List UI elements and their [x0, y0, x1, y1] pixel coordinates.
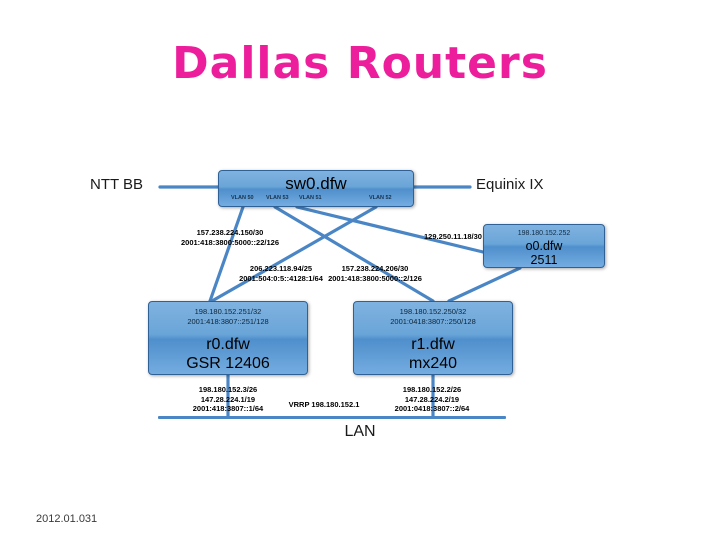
link-label-ntt-transit: 157.238.224.150/30 2001:418:3800:5000::2…	[165, 228, 295, 247]
vlan-label-51: VLAN 51	[299, 195, 322, 201]
lan-label-vrrp: VRRP 198.180.152.1	[272, 400, 376, 410]
node-r0-dfw[interactable]: 198.180.152.251/32 2001:418:3807::251/12…	[148, 301, 308, 375]
node-r1-ipv6: 2001:0418:3807::250/128	[354, 317, 512, 327]
link-label-ntt-transit-r1: 157.238.224.206/30 2001:418:3800:5000::2…	[320, 264, 430, 283]
link-label-ntt-transit-r1-ipv6: 2001:418:3800:5000::2/126	[320, 274, 430, 284]
lan-label-r1: 198.180.152.2/26 147.28.224.2/19 2001:04…	[369, 385, 495, 414]
vlan-label-52: VLAN 52	[369, 195, 392, 201]
link-label-oob: 129.250.11.18/30	[400, 232, 506, 242]
external-label-ntt-bb: NTT BB	[90, 176, 143, 193]
node-sw0-name: sw0.dfw	[219, 171, 413, 196]
link-label-oob-ipv4: 129.250.11.18/30	[400, 232, 506, 242]
node-r1-ipv4: 198.180.152.250/32	[354, 307, 512, 317]
vlan-label-53: VLAN 53	[266, 195, 289, 201]
node-r1-loopback-block: 198.180.152.250/32 2001:0418:3807::250/1…	[354, 302, 512, 327]
link-vlan51-o0	[297, 207, 483, 252]
lan-label-r1-ipv4-b: 147.28.224.2/19	[369, 395, 495, 405]
node-r1-model: mx240	[354, 354, 512, 373]
slide-canvas: Dallas Routers NTT BB Equinix IX sw0.dfw	[0, 0, 720, 540]
lan-segment-bar	[158, 416, 506, 419]
link-r1-o0	[449, 268, 520, 301]
lan-label-r1-ipv4-a: 198.180.152.2/26	[369, 385, 495, 395]
node-o0-model: 2511	[484, 253, 604, 267]
node-r0-name: r0.dfw	[149, 327, 307, 354]
node-r0-ipv6: 2001:418:3807::251/128	[149, 317, 307, 327]
link-label-equinix-peering-ipv4: 206.223.118.94/25	[233, 264, 329, 274]
node-r1-dfw[interactable]: 198.180.152.250/32 2001:0418:3807::250/1…	[353, 301, 513, 375]
link-label-equinix-peering: 206.223.118.94/25 2001:504:0:5::4128:1/6…	[233, 264, 329, 283]
vlan-port-row: VLAN 50 VLAN 53 VLAN 51 VLAN 52	[219, 195, 415, 207]
link-label-ntt-transit-r1-ipv4: 157.238.224.206/30	[320, 264, 430, 274]
link-label-ntt-transit-ipv4: 157.238.224.150/30	[165, 228, 295, 238]
slide-footer-version: 2012.01.031	[36, 513, 97, 525]
external-label-equinix-ix: Equinix IX	[476, 176, 544, 193]
lan-label-r1-ipv6: 2001:0418:3807::2/64	[369, 404, 495, 414]
lan-label-r0-ipv4-a: 198.180.152.3/26	[166, 385, 290, 395]
node-r1-name: r1.dfw	[354, 327, 512, 354]
node-r0-model: GSR 12406	[149, 354, 307, 373]
link-label-equinix-peering-ipv6: 2001:504:0:5::4128:1/64	[233, 274, 329, 284]
node-sw0-dfw[interactable]: sw0.dfw VLAN 50 VLAN 53 VLAN 51 VLAN 52	[218, 170, 414, 207]
vlan-label-50: VLAN 50	[231, 195, 254, 201]
node-r0-ipv4: 198.180.152.251/32	[149, 307, 307, 317]
node-o0-dfw[interactable]: 198.180.152.252 o0.dfw 2511	[483, 224, 605, 268]
link-label-ntt-transit-ipv6: 2001:418:3800:5000::22/126	[165, 238, 295, 248]
node-r0-loopback-block: 198.180.152.251/32 2001:418:3807::251/12…	[149, 302, 307, 327]
lan-title-label: LAN	[0, 423, 720, 441]
